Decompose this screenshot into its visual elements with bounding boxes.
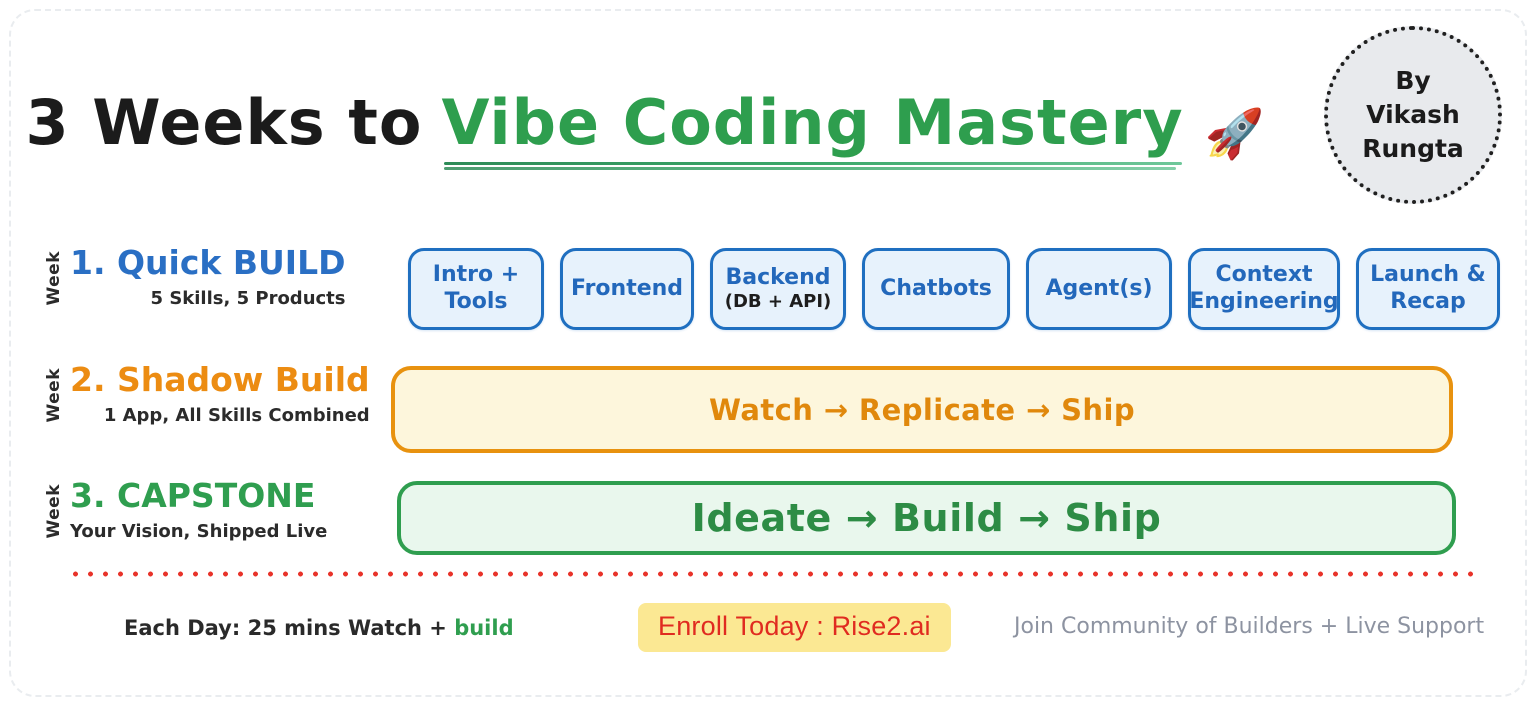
author-badge-line-3: Rungta: [1362, 132, 1464, 166]
card-line-primary: Intro +: [433, 262, 519, 289]
card-line-secondary: Recap: [1390, 289, 1466, 316]
card-context-engineering[interactable]: Context Engineering: [1188, 248, 1340, 330]
card-line-primary: Chatbots: [880, 276, 992, 303]
page-title: 3 Weeks to Vibe Coding Mastery 🚀: [0, 86, 1290, 162]
week-2-banner-text: Watch → Replicate → Ship: [709, 393, 1135, 427]
week-1-card-list: Intro + Tools Frontend Backend (DB + API…: [408, 248, 1500, 330]
week-subtitle-3: Your Vision, Shipped Live: [70, 521, 327, 542]
week-2-banner[interactable]: Watch → Replicate → Ship: [391, 366, 1453, 453]
dotted-divider: [68, 571, 1480, 577]
week-title-3: 3. CAPSTONE: [70, 478, 327, 514]
footer-daily-highlight: build: [454, 616, 513, 640]
week-3-banner-text: Ideate → Build → Ship: [692, 496, 1162, 540]
title-accent-wrap: Vibe Coding Mastery: [442, 86, 1184, 159]
card-line-secondary: Engineering: [1189, 289, 1338, 316]
week-subtitle-2: 1 App, All Skills Combined: [70, 405, 370, 426]
footer-community-note: Join Community of Builders + Live Suppor…: [1014, 614, 1484, 639]
week-labels-3: 3. CAPSTONE Your Vision, Shipped Live: [70, 478, 327, 542]
week-row-1: Week 1. Quick BUILD 5 Skills, 5 Products: [44, 245, 346, 309]
card-line-primary: Agent(s): [1045, 276, 1152, 303]
title-underline: [444, 162, 1182, 169]
card-launch-recap[interactable]: Launch & Recap: [1356, 248, 1500, 330]
week-title-2: 2. Shadow Build: [70, 362, 370, 398]
week-tag-2: Week: [44, 368, 66, 423]
card-line-secondary: (DB + API): [725, 291, 832, 313]
card-frontend[interactable]: Frontend: [560, 248, 694, 330]
week-tag-3: Week: [44, 484, 66, 539]
week-tag-1: Week: [44, 251, 66, 306]
card-line-secondary: Tools: [445, 289, 508, 316]
week-labels-2: 2. Shadow Build 1 App, All Skills Combin…: [70, 362, 370, 426]
week-title-1: 1. Quick BUILD: [70, 245, 346, 281]
card-line-primary: Frontend: [571, 276, 683, 303]
week-row-2: Week 2. Shadow Build 1 App, All Skills C…: [44, 362, 370, 426]
poster-canvas: 3 Weeks to Vibe Coding Mastery 🚀 By Vika…: [0, 0, 1536, 706]
week-row-3: Week 3. CAPSTONE Your Vision, Shipped Li…: [44, 478, 327, 542]
footer-daily-text: Each Day: 25 mins Watch +: [124, 616, 454, 640]
card-line-primary: Context: [1215, 262, 1312, 289]
author-badge: By Vikash Rungta: [1324, 26, 1502, 204]
card-intro-tools[interactable]: Intro + Tools: [408, 248, 544, 330]
week-subtitle-1: 5 Skills, 5 Products: [70, 288, 346, 309]
week-3-banner[interactable]: Ideate → Build → Ship: [397, 481, 1456, 555]
week-labels-1: 1. Quick BUILD 5 Skills, 5 Products: [70, 245, 346, 309]
author-badge-line-1: By: [1395, 64, 1430, 98]
title-accent-text: Vibe Coding Mastery: [442, 86, 1184, 159]
author-badge-line-2: Vikash: [1366, 98, 1460, 132]
rocket-icon: 🚀: [1205, 106, 1265, 162]
card-backend[interactable]: Backend (DB + API): [710, 248, 846, 330]
card-line-primary: Launch &: [1370, 262, 1486, 289]
enroll-cta-label: Enroll Today : Rise2.ai: [658, 611, 931, 641]
enroll-cta-button[interactable]: Enroll Today : Rise2.ai: [640, 605, 949, 650]
title-main-text: 3 Weeks to: [25, 86, 422, 159]
card-chatbots[interactable]: Chatbots: [862, 248, 1010, 330]
footer-daily-commitment: Each Day: 25 mins Watch + build: [124, 616, 514, 640]
card-line-primary: Backend: [725, 265, 830, 292]
card-agents[interactable]: Agent(s): [1026, 248, 1172, 330]
